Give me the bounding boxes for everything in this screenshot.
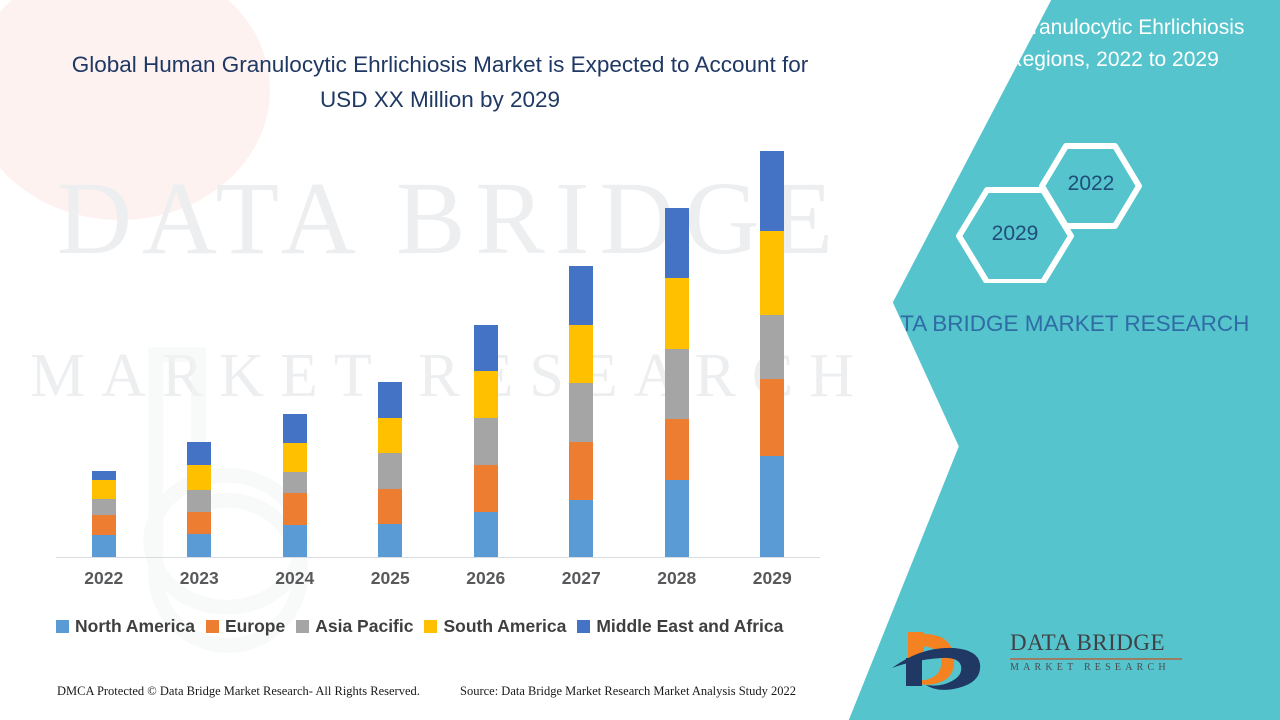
x-axis-tick-label: 2027 (536, 568, 626, 589)
bar-chart-plot (56, 150, 820, 558)
hexagon-badges: 2022 2029 (840, 138, 1280, 283)
bar-segment (760, 456, 784, 557)
legend-item[interactable]: Middle East and Africa (577, 616, 783, 637)
bar-segment (665, 419, 689, 480)
bar-segment (474, 325, 498, 371)
hexagon-front-label: 2029 (970, 222, 1060, 246)
legend-swatch-icon (296, 620, 309, 633)
company-logo: DATA BRIDGE MARKET RESEARCH (888, 628, 1128, 690)
bar-segment (569, 325, 593, 383)
bar-segment (665, 278, 689, 349)
bar-segment (187, 442, 211, 465)
hexagon-back-label: 2022 (1046, 172, 1136, 196)
bar-segment (760, 315, 784, 378)
bar-group (569, 266, 593, 557)
bar-segment (92, 480, 116, 499)
x-axis-tick-label: 2028 (632, 568, 722, 589)
bar-segment (474, 371, 498, 418)
bar-segment (569, 383, 593, 442)
bar-segment (378, 524, 402, 557)
bar-segment (760, 231, 784, 315)
bar-segment (378, 418, 402, 454)
bar-segment (283, 472, 307, 493)
bar-segment (378, 453, 402, 489)
bar-group (92, 471, 116, 557)
legend-swatch-icon (577, 620, 590, 633)
bar-segment (187, 490, 211, 512)
bar-segment (474, 465, 498, 512)
bar-group (474, 325, 498, 557)
data-bridge-logo-icon (888, 628, 1000, 690)
bar-segment (187, 534, 211, 557)
bar-segment (569, 442, 593, 500)
bar-segment (92, 515, 116, 535)
x-axis-tick-label: 2026 (441, 568, 531, 589)
bar-segment (665, 208, 689, 278)
bar-segment (283, 414, 307, 443)
brand-panel-title: Global Human Granulocytic Ehrlichiosis M… (870, 12, 1250, 75)
bar-segment (283, 493, 307, 526)
bar-segment (760, 379, 784, 457)
bar-segment (665, 480, 689, 557)
legend-swatch-icon (56, 620, 69, 633)
bar-segment (569, 500, 593, 557)
logo-subtitle-text: MARKET RESEARCH (1010, 662, 1182, 673)
legend-item[interactable]: South America (424, 616, 566, 637)
bar-segment (92, 471, 116, 481)
x-axis-tick-label: 2023 (154, 568, 244, 589)
page-title: Global Human Granulocytic Ehrlichiosis M… (60, 48, 820, 118)
legend-item[interactable]: Asia Pacific (296, 616, 413, 637)
source-text: Source: Data Bridge Market Research Mark… (460, 684, 796, 699)
legend-swatch-icon (206, 620, 219, 633)
hexagon-icons (840, 138, 1280, 283)
logo-name-text: DATA BRIDGE (1010, 630, 1182, 656)
x-axis-tick-label: 2022 (59, 568, 149, 589)
x-axis-tick-label: 2024 (250, 568, 340, 589)
legend-label: South America (443, 616, 566, 637)
bar-segment (92, 535, 116, 557)
bar-segment (378, 382, 402, 417)
chart-panel: DATA BRIDGE MARKET RESEARCH Global Human… (0, 0, 900, 720)
bar-group (378, 382, 402, 557)
brand-name-text: DATA BRIDGE MARKET RESEARCH (860, 308, 1260, 341)
bar-segment (187, 512, 211, 534)
x-axis-labels: 20222023202420252026202720282029 (56, 568, 820, 594)
legend-label: North America (75, 616, 195, 637)
bar-group (760, 151, 784, 557)
legend-swatch-icon (424, 620, 437, 633)
copyright-text: DMCA Protected © Data Bridge Market Rese… (57, 684, 420, 699)
bar-segment (187, 465, 211, 490)
legend-item[interactable]: North America (56, 616, 195, 637)
bar-segment (474, 418, 498, 465)
bar-group (187, 442, 211, 557)
logo-wordmark: DATA BRIDGE MARKET RESEARCH (1010, 630, 1182, 673)
bar-segment (760, 151, 784, 232)
bar-segment (283, 525, 307, 557)
bar-segment (283, 443, 307, 472)
chart-legend: North AmericaEuropeAsia PacificSouth Ame… (56, 616, 846, 637)
bar-segment (92, 499, 116, 515)
legend-label: Middle East and Africa (596, 616, 783, 637)
bar-group (665, 208, 689, 557)
legend-label: Europe (225, 616, 285, 637)
x-axis-tick-label: 2025 (345, 568, 435, 589)
x-axis-tick-label: 2029 (727, 568, 817, 589)
bar-segment (665, 349, 689, 419)
bar-segment (474, 512, 498, 557)
logo-divider (1010, 658, 1182, 660)
legend-label: Asia Pacific (315, 616, 413, 637)
brand-panel: Global Human Granulocytic Ehrlichiosis M… (840, 0, 1280, 720)
x-axis-line (56, 557, 820, 558)
legend-item[interactable]: Europe (206, 616, 285, 637)
bar-segment (569, 266, 593, 325)
bar-group (283, 414, 307, 557)
bar-segment (378, 489, 402, 524)
